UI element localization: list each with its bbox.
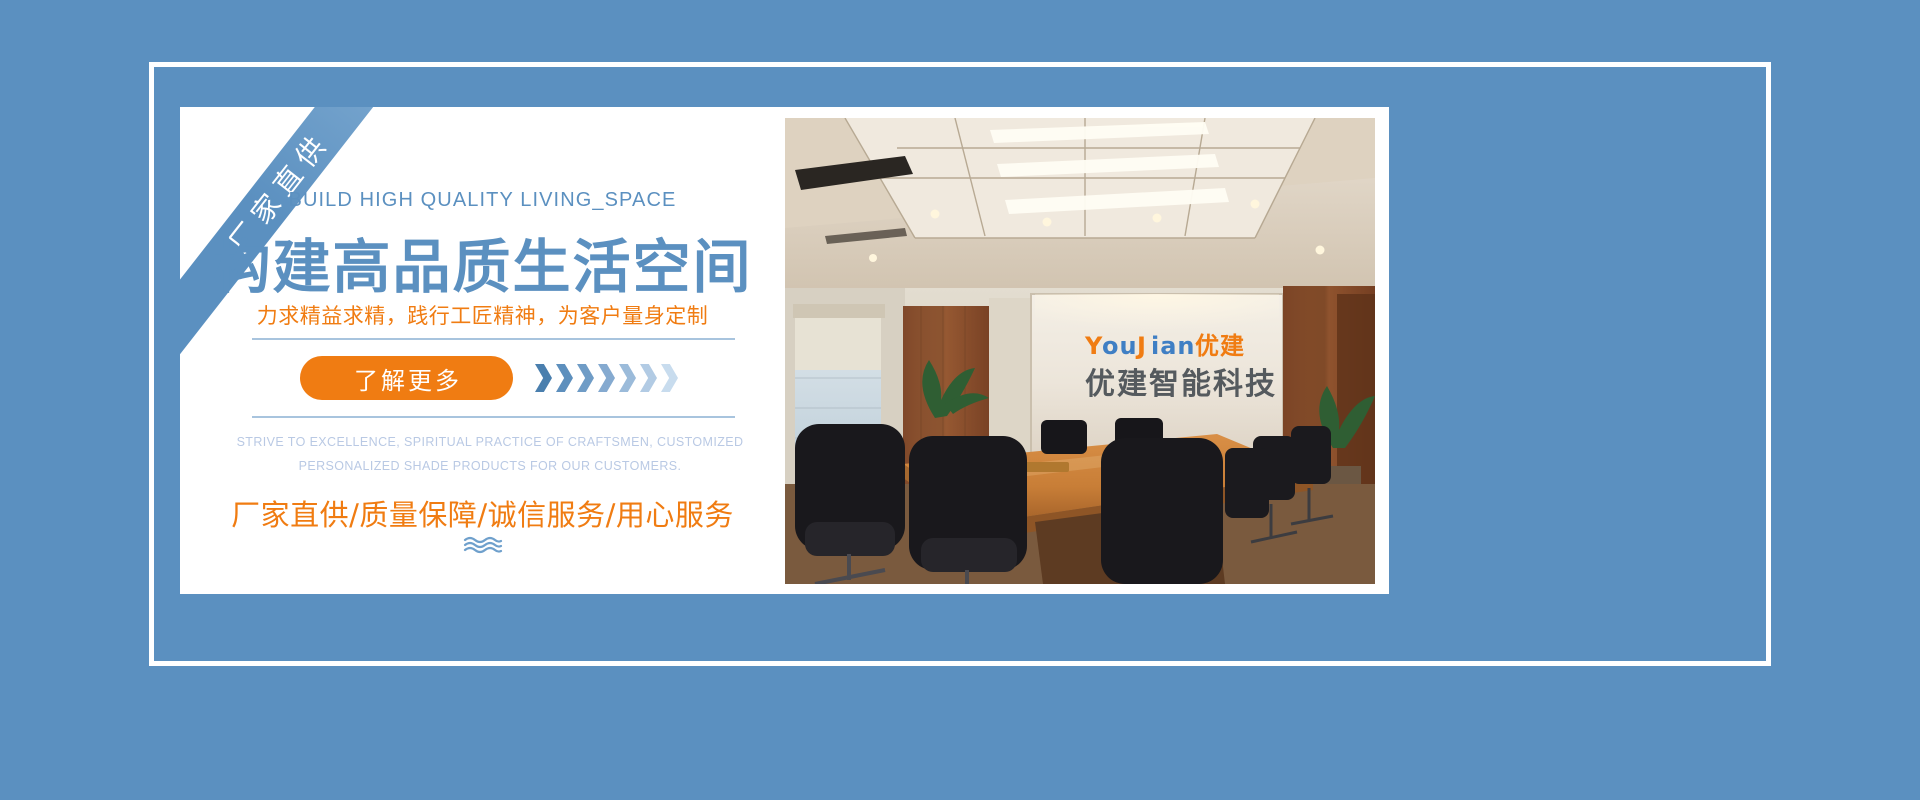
- svg-text:J: J: [1135, 332, 1147, 360]
- hero-subline: 力求精益求精，践行工匠精神，为客户量身定制: [180, 300, 785, 330]
- chevron-right-icon: [577, 364, 594, 392]
- hero-english-note: STRIVE TO EXCELLENCE, SPIRITUAL PRACTICE…: [230, 430, 750, 478]
- hero-text-column: BUILD HIGH QUALITY LIVING_SPACE 构建高品质生活空…: [180, 107, 785, 594]
- wave-divider-icon: [180, 535, 785, 555]
- chevron-right-icon: [598, 364, 615, 392]
- cta-block: 了解更多: [252, 338, 735, 418]
- learn-more-button[interactable]: 了解更多: [300, 356, 513, 400]
- chevron-right-icon: [535, 364, 552, 392]
- content-card: 厂家直供 BUILD HIGH QUALITY LIVING_SPACE 构建高…: [180, 107, 1389, 594]
- chevron-right-icon: [661, 364, 678, 392]
- hero-tagline: 厂家直供/质量保障/诚信服务/用心服务: [180, 492, 785, 534]
- svg-text:ou: ou: [1102, 332, 1138, 360]
- banner-root: 厂家直供 BUILD HIGH QUALITY LIVING_SPACE 构建高…: [0, 0, 1920, 800]
- chevron-right-icon: [556, 364, 573, 392]
- chevron-right-icon: [640, 364, 657, 392]
- chevron-right-icon: [619, 364, 636, 392]
- svg-text:优建智能科技: 优建智能科技: [1085, 367, 1277, 402]
- chevron-arrow-group: [535, 364, 682, 392]
- page-title: 构建高品质生活空间: [180, 220, 785, 304]
- svg-text:Y: Y: [1084, 332, 1103, 360]
- conference-room-photo: Y ou J ian 优建 优建智能科技: [785, 118, 1375, 584]
- svg-text:ian: ian: [1151, 332, 1196, 360]
- svg-text:优建: 优建: [1195, 332, 1245, 360]
- hero-eyebrow: BUILD HIGH QUALITY LIVING_SPACE: [180, 189, 785, 212]
